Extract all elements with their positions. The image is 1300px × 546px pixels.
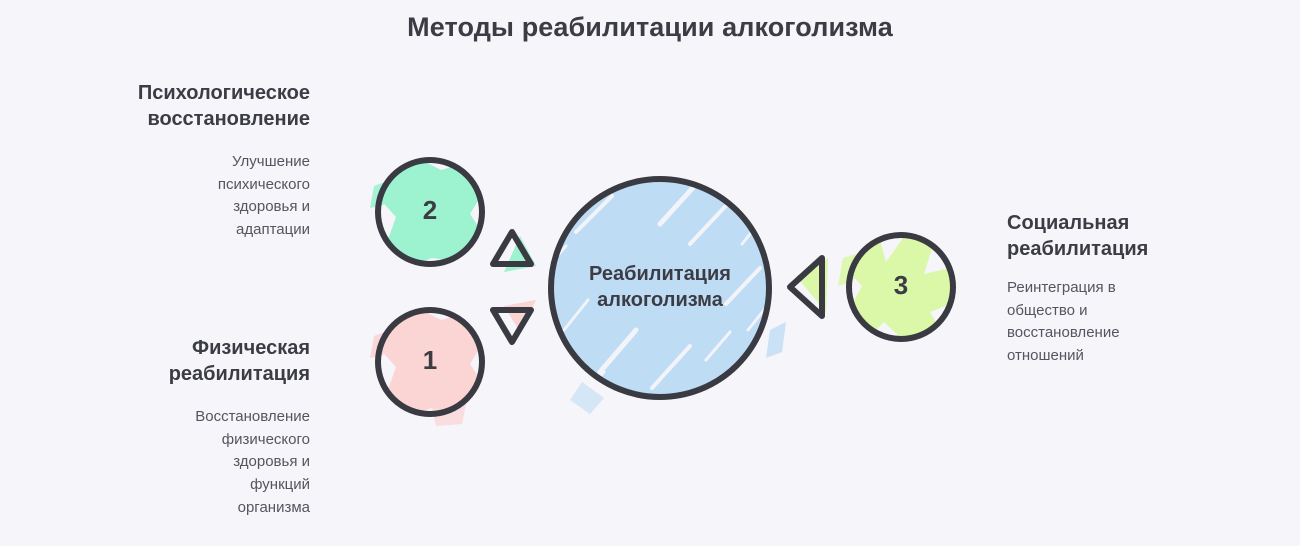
node-2-fill xyxy=(370,154,490,276)
arrow-down-icon xyxy=(493,300,536,342)
arrow-left-icon xyxy=(790,258,828,316)
infographic-canvas: Методы реабилитации алкоголизма Психолог… xyxy=(0,0,1300,546)
node-1-fill xyxy=(370,304,490,426)
arrow-up-icon xyxy=(493,232,536,272)
diagram-svg xyxy=(0,0,1300,546)
